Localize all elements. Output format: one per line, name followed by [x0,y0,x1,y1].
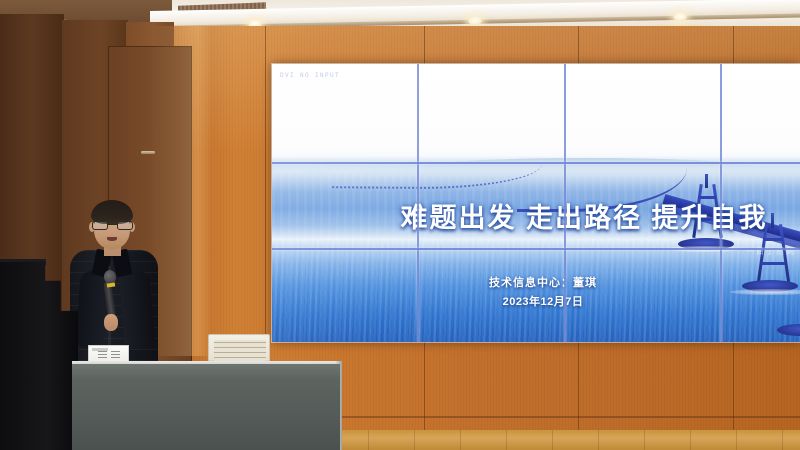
downlight-icon [468,17,482,25]
panel-bezel-vertical [564,64,566,342]
speaker-hand [104,314,118,331]
nameplate-text-glyph [111,351,120,360]
chair-slats [214,340,266,359]
panel-bezel-vertical [417,64,419,342]
speaker-arm-left [75,269,108,349]
table-skirt [72,364,340,450]
glasses-icon [92,221,133,230]
nameplate-text-glyph [98,351,107,360]
downlight-icon [673,13,687,21]
display-input-label: DVI NO INPUT [280,72,340,79]
panel-bezel-vertical [720,64,722,342]
panel-bezel-horizontal [272,248,800,250]
video-wall[interactable]: 难题出发 走出路径 提升自我 技术信息中心：董琪 2023年12月7日 DVI … [272,64,800,342]
speaker-mouth [107,237,117,241]
chair-backrest [208,334,270,362]
panel-bezel-horizontal [272,162,800,164]
conference-room-scene: 难题出发 走出路径 提升自我 技术信息中心：董琪 2023年12月7日 DVI … [0,0,800,450]
